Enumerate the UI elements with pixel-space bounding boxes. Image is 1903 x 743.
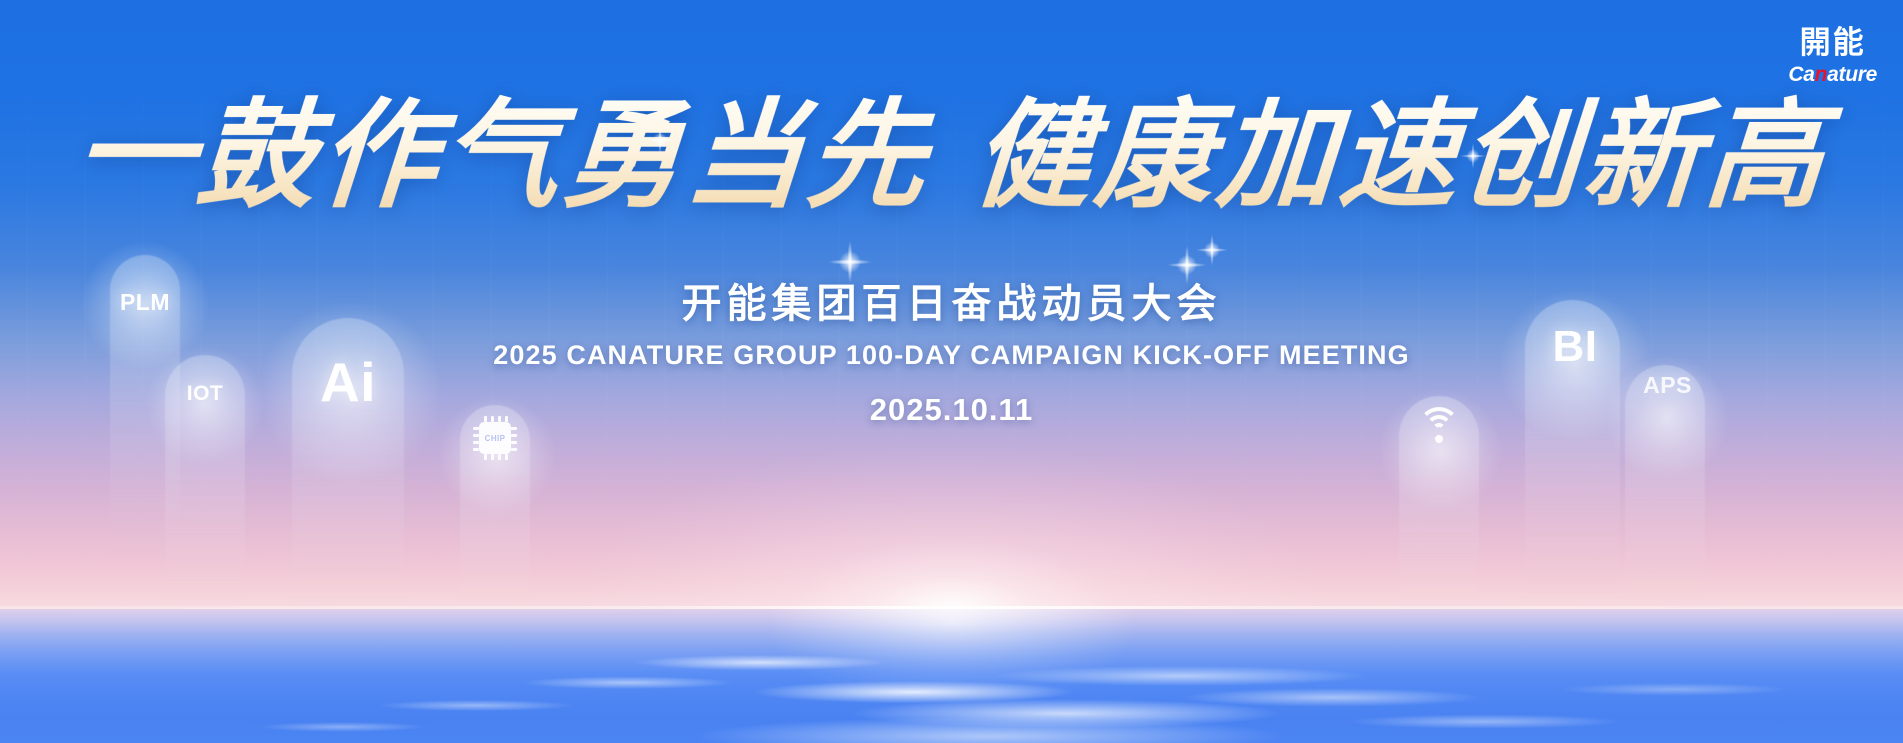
logo-wordmark-accent: n	[1815, 63, 1828, 86]
water-ripples	[0, 609, 1903, 743]
brand-logo[interactable]: 開能 Canature	[1788, 28, 1877, 85]
headline-line-2: 健康加速创新高	[969, 85, 1833, 224]
headline-line-1: 一鼓作气勇当先	[71, 85, 935, 224]
logo-wordmark-part2: ature	[1827, 63, 1877, 86]
logo-chinese-name: 開能	[1788, 28, 1877, 59]
subtitle-chinese: 开能集团百日奋战动员大会	[0, 271, 1903, 329]
water-surface	[0, 609, 1903, 743]
logo-wordmark: Canature	[1788, 64, 1877, 85]
page-title: 一鼓作气勇当先健康加速创新高	[0, 92, 1903, 217]
banner-stage: PLM IOT Ai CHIP	[0, 0, 1903, 743]
water-sun-reflection	[742, 609, 1162, 743]
subtitle-english: 2025 CANATURE GROUP 100-DAY CAMPAIGN KIC…	[0, 340, 1903, 371]
event-date: 2025.10.11	[0, 392, 1903, 428]
logo-wordmark-part1: Ca	[1788, 63, 1814, 86]
